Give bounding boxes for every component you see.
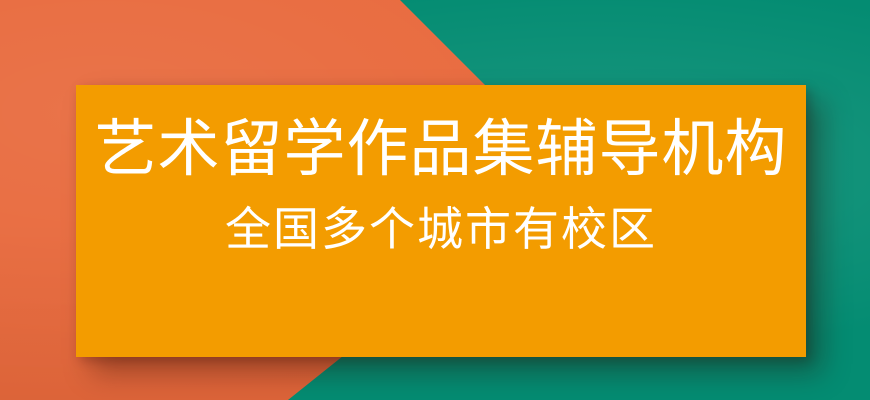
headline-title: 艺术留学作品集辅导机构 [94,117,787,183]
promo-banner: 艺术留学作品集辅导机构 全国多个城市有校区 [0,0,870,400]
headline-subtitle: 全国多个城市有校区 [225,205,657,255]
headline-card: 艺术留学作品集辅导机构 全国多个城市有校区 [76,85,806,357]
